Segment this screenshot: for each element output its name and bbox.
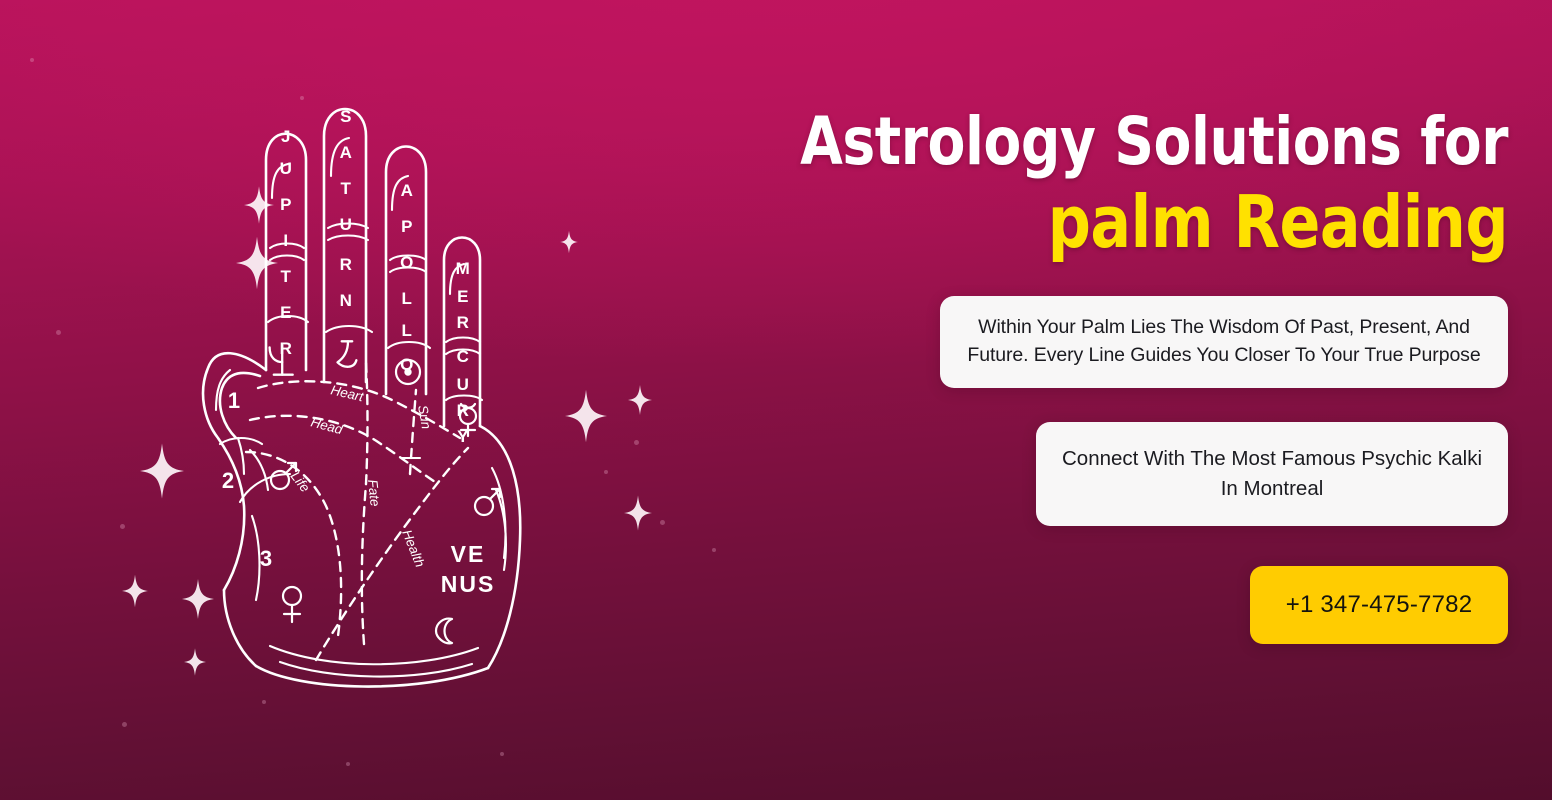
palm-lines [246,362,468,660]
headline-line-2: palm Reading [736,181,1508,265]
thumb-segment-1: 1 [228,388,240,413]
label-fate: Fate [365,479,383,507]
svg-text:P: P [401,217,413,236]
star-dot [634,440,639,445]
svg-text:C: C [457,347,470,366]
svg-text:R: R [340,255,353,274]
star-dot [604,470,608,474]
svg-text:A: A [401,181,414,200]
label-head: Head [309,414,345,437]
thumb-segment-3: 3 [260,546,272,571]
star-dot [660,520,665,525]
svg-text:R: R [457,313,470,332]
star-dot [56,330,61,335]
star-dot [346,762,350,766]
svg-text:O: O [400,253,414,272]
svg-text:U: U [340,215,353,234]
saturn-glyph [338,341,357,366]
page-title: Astrology Solutions for palm Reading [736,104,1508,264]
svg-text:E: E [457,287,469,306]
finger-jupiter: J U P I T E R [266,127,308,370]
star-dot [500,752,504,756]
svg-text:U: U [280,159,293,178]
svg-text:VE: VE [451,541,486,567]
label-heart: Heart [329,382,366,404]
sparkle-icon [628,384,652,416]
svg-text:L: L [402,321,413,340]
moon-glyph [436,619,452,644]
headline-line-1: Astrology Solutions for [800,103,1508,180]
svg-text:A: A [340,143,353,162]
finger-apollo: A P O L L O [386,147,430,395]
svg-text:N: N [340,291,353,310]
mount-of-venus-label: VE NUS [441,541,496,597]
svg-text:P: P [280,195,292,214]
star-dot [30,58,34,62]
wisdom-card: Within Your Palm Lies The Wisdom Of Past… [940,296,1508,388]
svg-text:I: I [283,231,288,250]
label-health: Health [399,528,428,570]
svg-text:NUS: NUS [441,571,496,597]
line-sun [410,390,416,474]
svg-text:S: S [340,107,352,126]
venus-glyph [283,587,301,622]
label-life: Life [288,469,313,495]
svg-text:M: M [456,259,471,278]
palm-reading-banner: J U P I T E R S A T U R N [0,0,1552,800]
svg-text:E: E [280,303,292,322]
svg-text:U: U [457,375,470,394]
content-column: Astrology Solutions for palm Reading Wit… [678,104,1508,644]
label-sun: Sun [415,404,434,430]
line-fate [362,362,368,644]
thumb-segment-2: 2 [222,468,234,493]
star-dot [122,722,127,727]
svg-text:L: L [402,289,413,308]
mars-lower-glyph [475,489,500,515]
phone-call-button[interactable]: +1 347-475-7782 [1250,566,1508,644]
thumb: 1 2 3 [203,353,272,590]
svg-text:T: T [281,267,292,286]
connect-card: Connect With The Most Famous Psychic Kal… [1036,422,1508,525]
palm-diagram-illustration: J U P I T E R S A T U R N [120,70,580,720]
sparkle-icon [624,494,652,532]
svg-text:J: J [281,127,291,146]
svg-text:T: T [341,179,352,198]
